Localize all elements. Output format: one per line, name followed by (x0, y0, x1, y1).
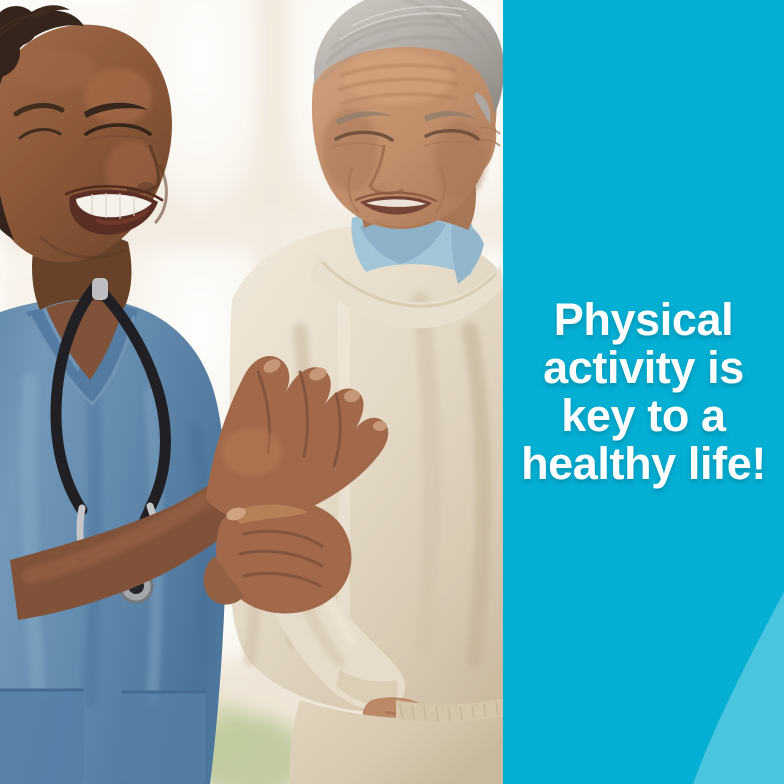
panel-headline: Physical activity is key to a healthy li… (503, 296, 784, 488)
poster-canvas: Physical activity is key to a healthy li… (0, 0, 784, 784)
headline-panel: Physical activity is key to a healthy li… (503, 0, 784, 784)
photo-nurse-and-patient (0, 0, 504, 784)
photo-illustration (0, 0, 504, 784)
